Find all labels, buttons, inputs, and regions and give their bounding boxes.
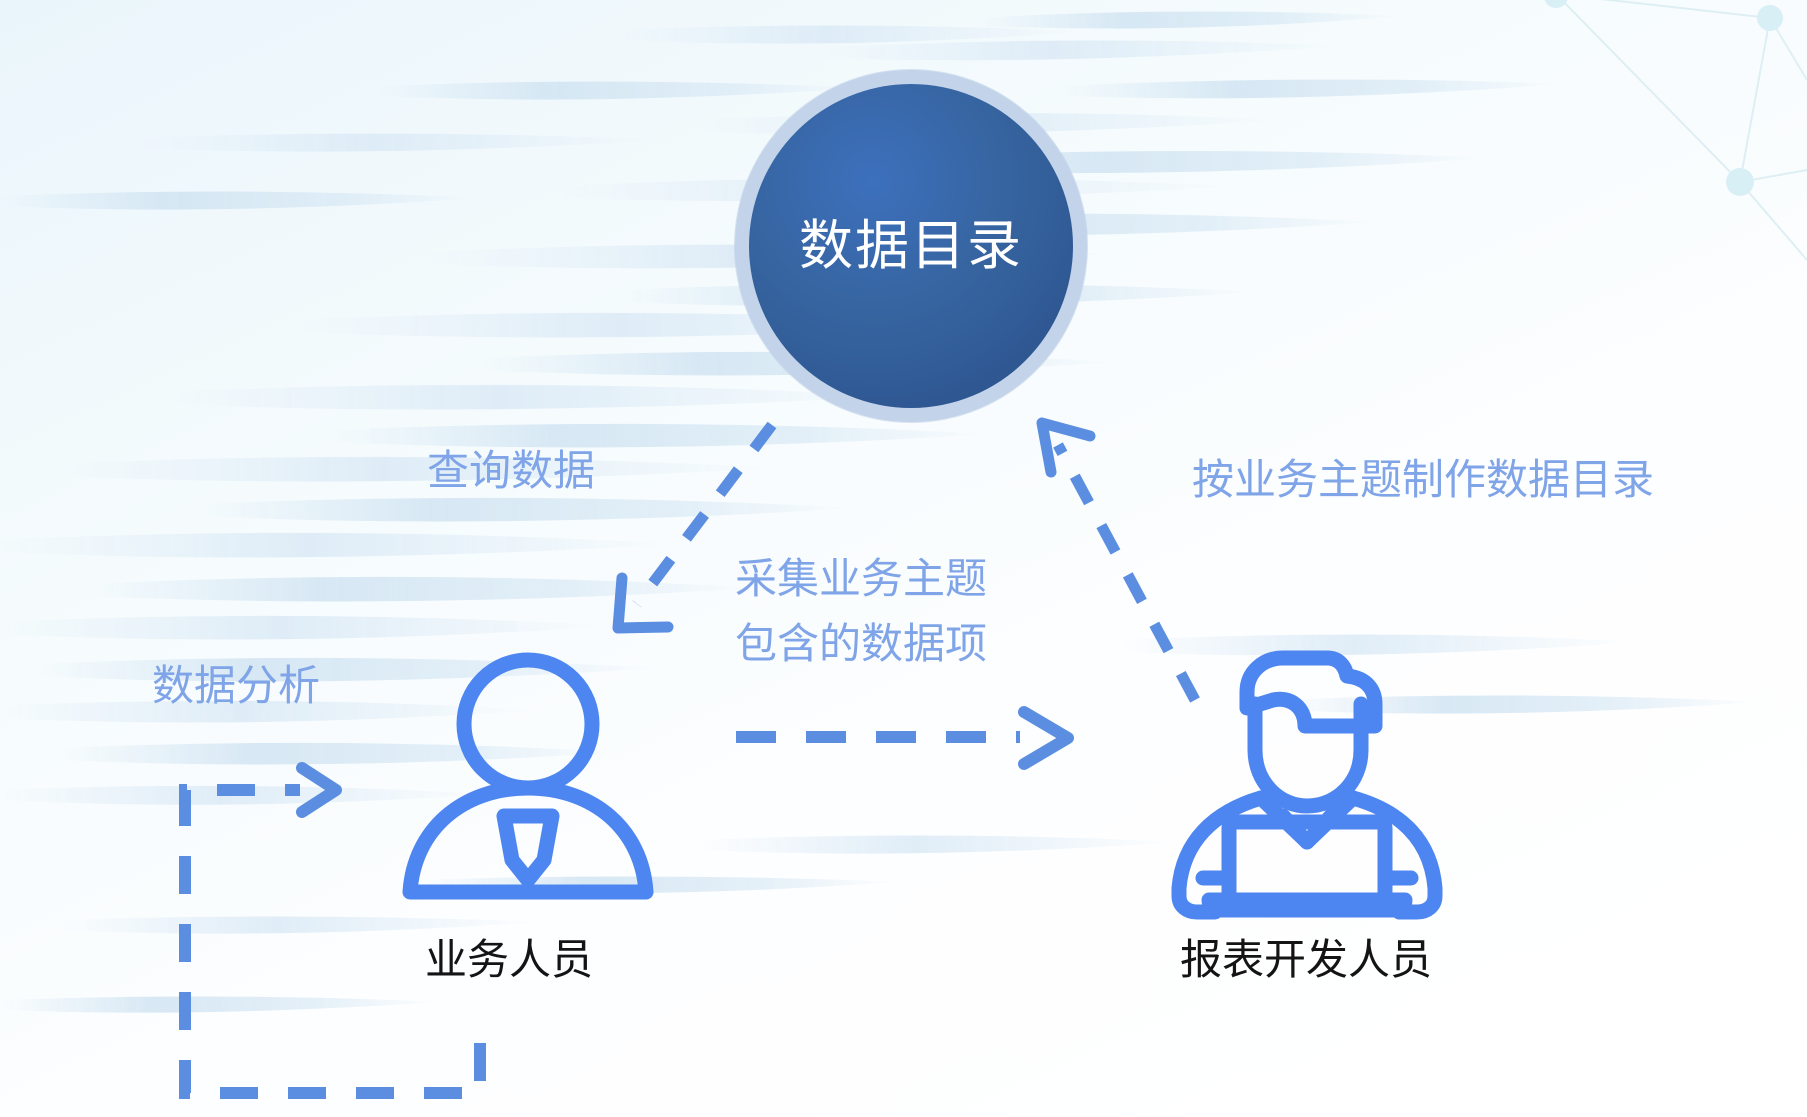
actor-label-business-user: 业务人员 [425,926,593,987]
person-with-tie-icon [410,660,646,892]
arrow-collect-items [736,712,1068,764]
network-decoration [1556,0,1807,260]
diagram-canvas: 数据目录 [0,0,1807,1117]
node-data-catalog-label: 数据目录 [799,219,1023,273]
edge-label-build-catalog: 按业务主题制作数据目录 [1192,453,1654,507]
edge-label-collect-items-line1: 采集业务主题 [735,552,987,606]
edge-label-query-data: 查询数据 [427,444,595,498]
actor-report-developer-icon[interactable] [1155,630,1455,920]
node-data-catalog[interactable]: 数据目录 [749,84,1073,408]
actor-label-report-developer: 报表开发人员 [1180,926,1432,987]
edge-label-data-analysis: 数据分析 [152,659,320,713]
edge-label-collect-items-line2: 包含的数据项 [735,617,987,671]
actor-business-user-icon[interactable] [392,648,664,910]
developer-with-laptop-icon [1179,658,1435,912]
